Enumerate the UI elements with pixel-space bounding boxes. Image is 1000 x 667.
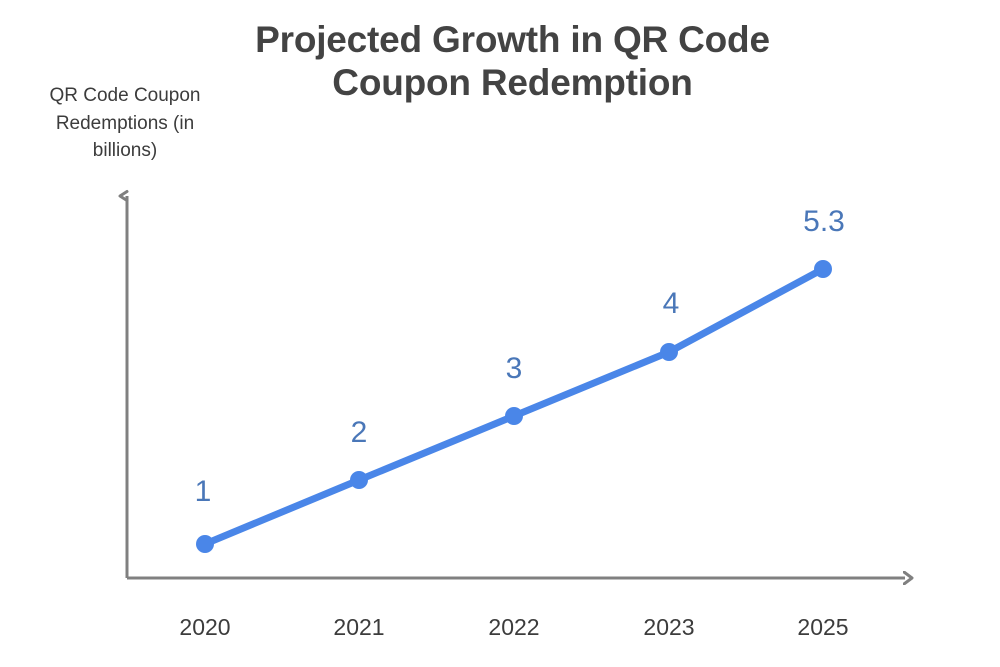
chart-container: Projected Growth in QR Code Coupon Redem…	[0, 0, 1000, 667]
data-point-value-label: 5.3	[803, 205, 845, 239]
x-axis-tick-label: 2021	[333, 614, 384, 641]
data-point-marker[interactable]	[660, 343, 678, 361]
data-point-value-label: 1	[195, 475, 212, 509]
data-series-line	[205, 269, 823, 544]
data-point-marker[interactable]	[505, 407, 523, 425]
x-axis-tick-label: 2020	[179, 614, 230, 641]
data-point-marker[interactable]	[814, 260, 832, 278]
x-axis-tick-label: 2025	[797, 614, 848, 641]
chart-plot-area	[0, 0, 1000, 667]
data-point-value-label: 4	[663, 287, 680, 321]
x-axis-tick-label: 2022	[488, 614, 539, 641]
data-point-marker[interactable]	[350, 471, 368, 489]
data-point-value-label: 3	[506, 352, 523, 386]
x-axis-tick-label: 2023	[643, 614, 694, 641]
data-point-value-label: 2	[351, 416, 368, 450]
data-point-marker[interactable]	[196, 535, 214, 553]
